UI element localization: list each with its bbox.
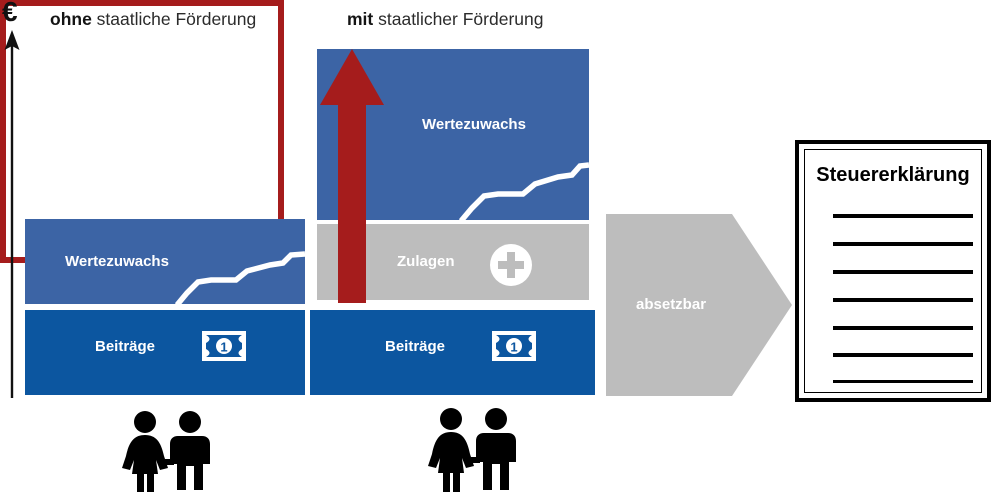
svg-text:1: 1 (220, 340, 227, 355)
document-line (833, 353, 973, 357)
banknote-icon: 1 (492, 331, 536, 361)
document-line (833, 326, 973, 330)
red-up-arrow-icon (318, 47, 390, 303)
document-line (833, 270, 973, 274)
document-title: Steuererklärung (805, 164, 981, 187)
euro-axis-symbol: € (2, 0, 18, 26)
heading-left-bold: ohne (50, 9, 92, 29)
document-inner-border: Steuererklärung (804, 149, 982, 393)
bar-mid-beitraege-label: Beiträge (385, 338, 445, 355)
bar-left-wertezuwachs-label: Wertezuwachs (65, 253, 169, 270)
document-line (833, 380, 973, 383)
bar-mid-wertezuwachs-label: Wertezuwachs (422, 116, 526, 133)
heading-without-subsidy: ohne staatliche Förderung (50, 9, 256, 29)
document-line (833, 242, 973, 246)
document-line (833, 298, 973, 302)
y-axis-arrow-icon (2, 30, 22, 398)
couple-pictogram-icon (424, 406, 528, 492)
banknote-icon: 1 (202, 331, 246, 361)
bar-left-wertezuwachs: Wertezuwachs (25, 219, 305, 304)
bar-left-beitraege: Beiträge (25, 310, 305, 395)
absetzbar-label: absetzbar (636, 296, 706, 313)
bar-mid-beitraege: Beiträge (310, 310, 595, 395)
heading-right-bold: mit (347, 9, 373, 29)
svg-text:1: 1 (510, 340, 517, 355)
heading-right-rest: staatlicher Förderung (373, 9, 543, 29)
couple-pictogram-icon (118, 410, 222, 492)
infographic-canvas: € ohne staatliche Förderung mit staatlic… (0, 0, 999, 499)
document-line (833, 214, 973, 218)
steuererklaerung-document: Steuererklärung (795, 140, 991, 402)
bar-mid-zulagen-label: Zulagen (397, 253, 455, 270)
bar-left-beitraege-label: Beiträge (95, 338, 155, 355)
heading-with-subsidy: mit staatlicher Förderung (347, 9, 543, 29)
heading-left-rest: staatliche Förderung (92, 9, 256, 29)
plus-circle-icon (487, 241, 535, 289)
